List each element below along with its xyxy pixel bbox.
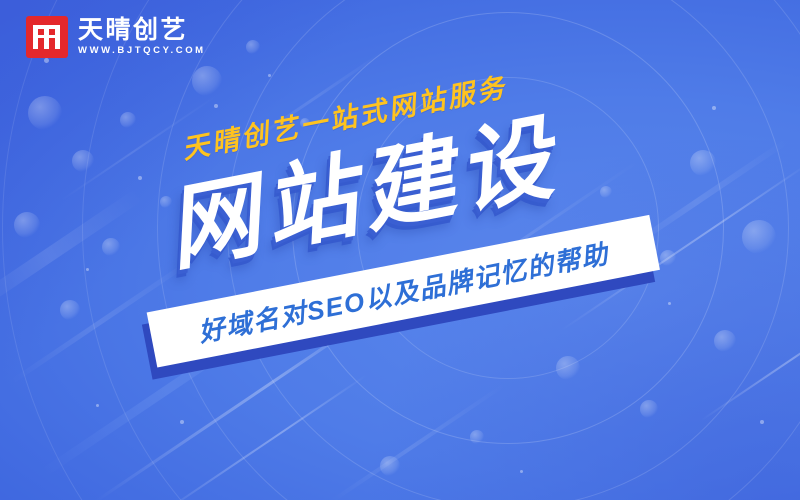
logo-mark-icon xyxy=(26,16,68,58)
logo-website-url: WWW.BJTQCY.COM xyxy=(78,46,206,56)
brand-logo[interactable]: 天晴创艺 WWW.BJTQCY.COM xyxy=(26,16,206,58)
promo-banner: 天晴创艺 WWW.BJTQCY.COM 天晴创艺一站式网站服务 网站建设 好域名… xyxy=(0,0,800,500)
logo-company-name: 天晴创艺 xyxy=(78,18,206,43)
hero-text-group: 天晴创艺一站式网站服务 网站建设 好域名对SEO以及品牌记忆的帮助 xyxy=(0,0,800,500)
